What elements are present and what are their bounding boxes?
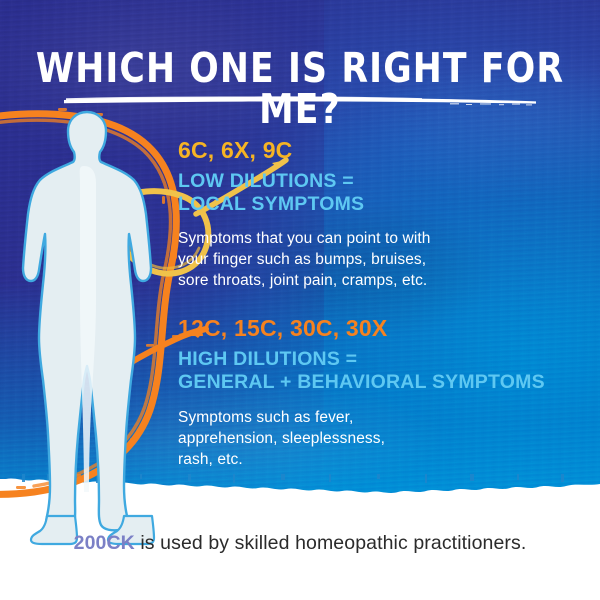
illustration-group xyxy=(0,0,600,600)
high-dilution-block: 12C, 15C, 30C, 30X HIGH DILUTIONS = GENE… xyxy=(178,317,590,471)
low-dilution-subhead-line2: LOCAL SYMPTOMS xyxy=(178,193,578,216)
low-dilution-body: Symptoms that you can point to with your… xyxy=(178,228,578,292)
high-dilution-body-line2: apprehension, sleeplessness, xyxy=(178,428,590,449)
high-dilution-subhead-line2: GENERAL + BEHAVIORAL SYMPTOMS xyxy=(178,371,590,394)
low-dilution-body-line3: sore throats, joint pain, cramps, etc. xyxy=(178,270,578,291)
low-dilution-body-line1: Symptoms that you can point to with xyxy=(178,228,578,249)
human-body-silhouette-icon xyxy=(23,112,154,544)
low-dilution-subhead: LOW DILUTIONS = LOCAL SYMPTOMS xyxy=(178,170,578,216)
high-dilution-body: Symptoms such as fever, apprehension, sl… xyxy=(178,407,590,471)
low-dilution-subhead-line1: LOW DILUTIONS = xyxy=(178,170,578,193)
high-dilution-potencies: 12C, 15C, 30C, 30X xyxy=(178,317,590,340)
high-dilution-body-line1: Symptoms such as fever, xyxy=(178,407,590,428)
low-dilution-potencies: 6C, 6X, 9C xyxy=(178,139,578,162)
low-dilution-body-line2: your finger such as bumps, bruises, xyxy=(178,249,578,270)
high-dilution-subhead-line1: HIGH DILUTIONS = xyxy=(178,348,590,371)
high-dilution-body-line3: rash, etc. xyxy=(178,449,590,470)
high-dilution-subhead: HIGH DILUTIONS = GENERAL + BEHAVIORAL SY… xyxy=(178,348,590,394)
footer-potency-code: 200CK xyxy=(74,532,135,554)
footer-note: 200CK is used by skilled homeopathic pra… xyxy=(0,532,600,555)
low-dilution-block: 6C, 6X, 9C LOW DILUTIONS = LOCAL SYMPTOM… xyxy=(178,139,578,292)
infographic-poster: WHICH ONE IS RIGHT FOR ME? xyxy=(0,0,600,600)
footer-text: is used by skilled homeopathic practitio… xyxy=(135,532,527,554)
